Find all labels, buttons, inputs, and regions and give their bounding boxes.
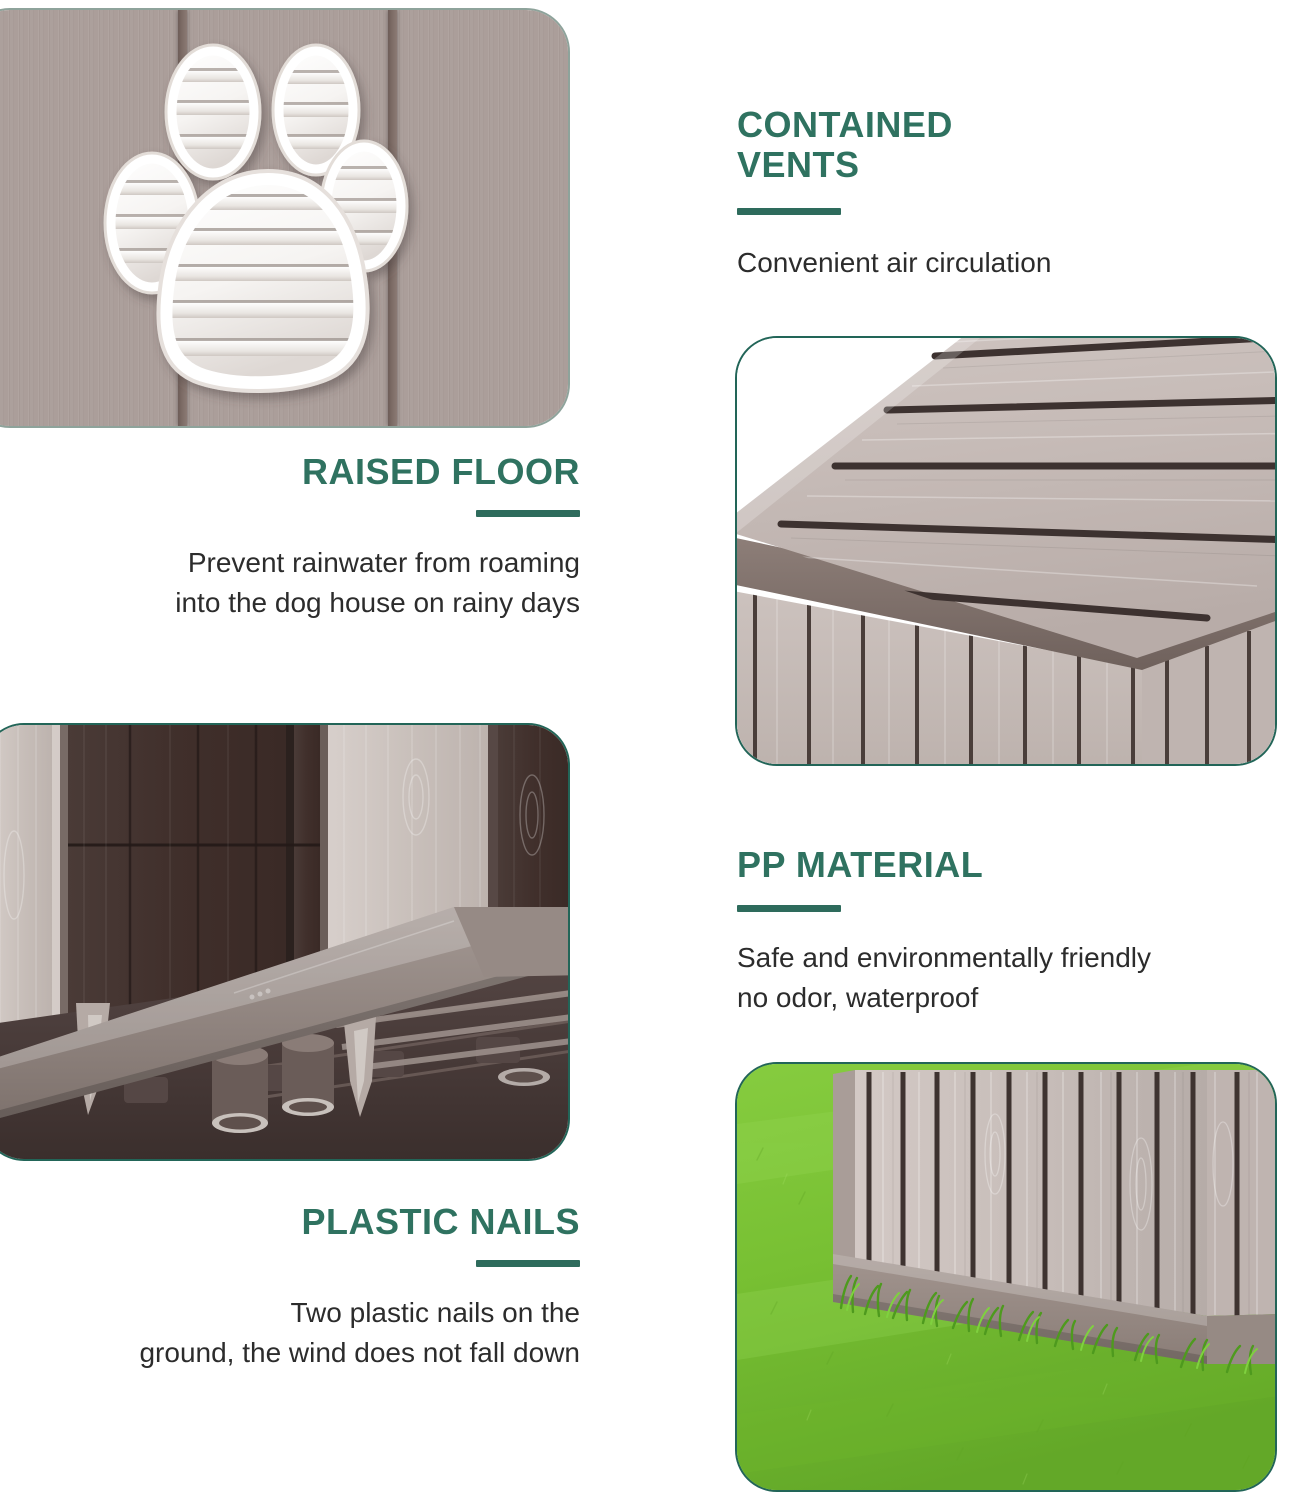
feature-block-contained-vents: CONTAINED VENTS Convenient air circulati… xyxy=(737,105,1297,282)
feature-image-pp-material xyxy=(735,1062,1277,1492)
siding-side-face xyxy=(1207,1070,1275,1316)
base-underside-illustration xyxy=(0,725,568,1159)
grass-base-scene xyxy=(737,1064,1275,1490)
feature-heading-pp-material: PP MATERIAL xyxy=(737,845,1297,885)
base-plinth-side xyxy=(1207,1314,1275,1364)
dog-house-on-grass-illustration xyxy=(737,1064,1275,1490)
corner-post xyxy=(833,1070,855,1260)
feature-image-raised-floor xyxy=(0,8,570,428)
feature-image-plastic-nails xyxy=(0,723,570,1161)
feature-rule-plastic-nails xyxy=(476,1260,580,1267)
feature-block-pp-material: PP MATERIAL Safe and environmentally fri… xyxy=(737,845,1297,1018)
feature-block-raised-floor: RAISED FLOOR Prevent rainwater from roam… xyxy=(20,452,580,623)
feature-rule-contained-vents xyxy=(737,208,841,215)
paw-vent-scene xyxy=(0,10,568,426)
feature-body-contained-vents: Convenient air circulation xyxy=(737,243,1297,283)
feature-block-plastic-nails: PLASTIC NAILS Two plastic nails on the g… xyxy=(20,1202,580,1373)
paw-print-vent-icon xyxy=(0,10,568,426)
feature-rule-pp-material xyxy=(737,905,841,912)
feature-heading-raised-floor: RAISED FLOOR xyxy=(20,452,580,492)
roof-corner-illustration xyxy=(737,338,1275,764)
plastic-nails-scene xyxy=(0,725,568,1159)
feature-body-raised-floor: Prevent rainwater from roaming into the … xyxy=(20,543,580,623)
feature-heading-contained-vents: CONTAINED VENTS xyxy=(737,105,1297,186)
feature-heading-plastic-nails: PLASTIC NAILS xyxy=(20,1202,580,1242)
feature-body-plastic-nails: Two plastic nails on the ground, the win… xyxy=(20,1293,580,1373)
feature-body-pp-material: Safe and environmentally friendly no odo… xyxy=(737,938,1297,1018)
roof-corner-scene xyxy=(737,338,1275,764)
feature-rule-raised-floor xyxy=(476,510,580,517)
feature-image-contained-vents xyxy=(735,336,1277,766)
